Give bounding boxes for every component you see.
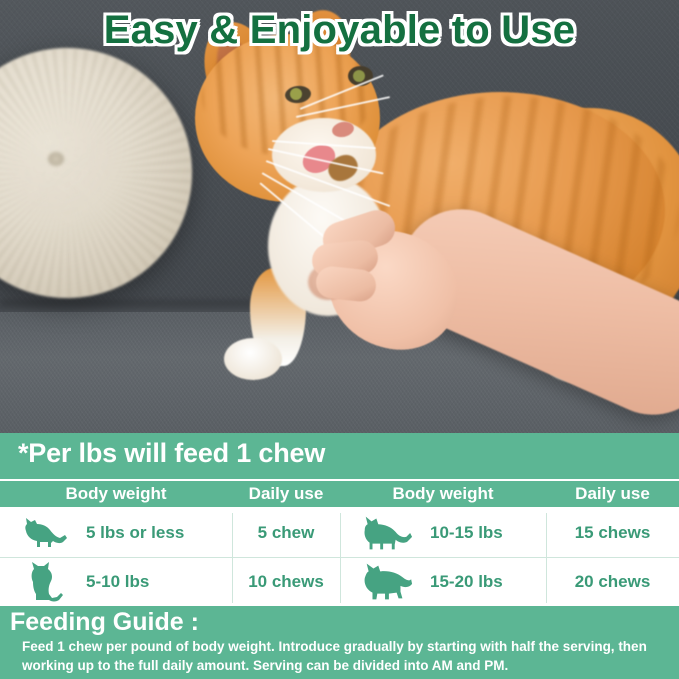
weight-value: 5 lbs or less [86,523,184,543]
table-row: 5-10 lbs 10 chews 15-20 lbs 20 chew [0,558,679,606]
cat-fluffy-icon [358,562,414,602]
cat-eye-left-iris [290,88,302,100]
cell-icon-right [346,509,426,557]
column-header-body-weight-1: Body weight [0,484,232,504]
cat-front-paw [224,338,282,380]
table-banner: *Per lbs will feed 1 chew [0,433,679,478]
table-header-row: Body weight Daily use Body weight Daily … [0,479,679,509]
cell-icon-left [8,509,80,557]
feeding-table-panel: *Per lbs will feed 1 chew Body weight Da… [0,433,679,679]
column-header-body-weight-2: Body weight [340,484,546,504]
cat-sitting-icon [16,562,72,602]
cell-weight-right: 15-20 lbs [430,558,546,606]
human-hand [300,206,679,433]
table-row: 5 lbs or less 5 chew 10-15 lbs 15 c [0,509,679,557]
cell-use-right: 15 chews [546,509,679,557]
weight-value: 5-10 lbs [86,572,149,592]
column-header-daily-use-1: Daily use [232,484,340,504]
cat-standing-icon [358,513,414,553]
cell-weight-left: 5 lbs or less [86,509,232,557]
hero-photo: Easy & Enjoyable to Use [0,0,679,433]
product-infographic: Easy & Enjoyable to Use *Per lbs will fe… [0,0,679,679]
daily-use-value: 5 chew [258,523,315,543]
cell-weight-right: 10-15 lbs [430,509,546,557]
weight-value: 10-15 lbs [430,523,503,543]
feeding-guide-body: Feed 1 chew per pound of body weight. In… [22,638,662,675]
weight-value: 15-20 lbs [430,572,503,592]
column-header-daily-use-2: Daily use [546,484,679,504]
table-banner-text: *Per lbs will feed 1 chew [18,438,325,469]
cell-icon-right [346,558,426,606]
cell-use-left: 10 chews [232,558,340,606]
feeding-guide-section: Feeding Guide : Feed 1 chew per pound of… [0,604,679,679]
cat-eye-right-iris [353,70,365,82]
pillow-button [48,152,64,166]
cell-use-left: 5 chew [232,509,340,557]
daily-use-value: 20 chews [575,572,651,592]
cell-weight-left: 5-10 lbs [86,558,232,606]
cat-crouching-icon [16,513,72,553]
page-title: Easy & Enjoyable to Use [0,8,679,53]
cell-icon-left [8,558,80,606]
feeding-guide-title: Feeding Guide : [10,608,199,637]
cell-use-right: 20 chews [546,558,679,606]
daily-use-value: 15 chews [575,523,651,543]
feeding-table: 5 lbs or less 5 chew 10-15 lbs 15 c [0,507,679,606]
daily-use-value: 10 chews [248,572,324,592]
